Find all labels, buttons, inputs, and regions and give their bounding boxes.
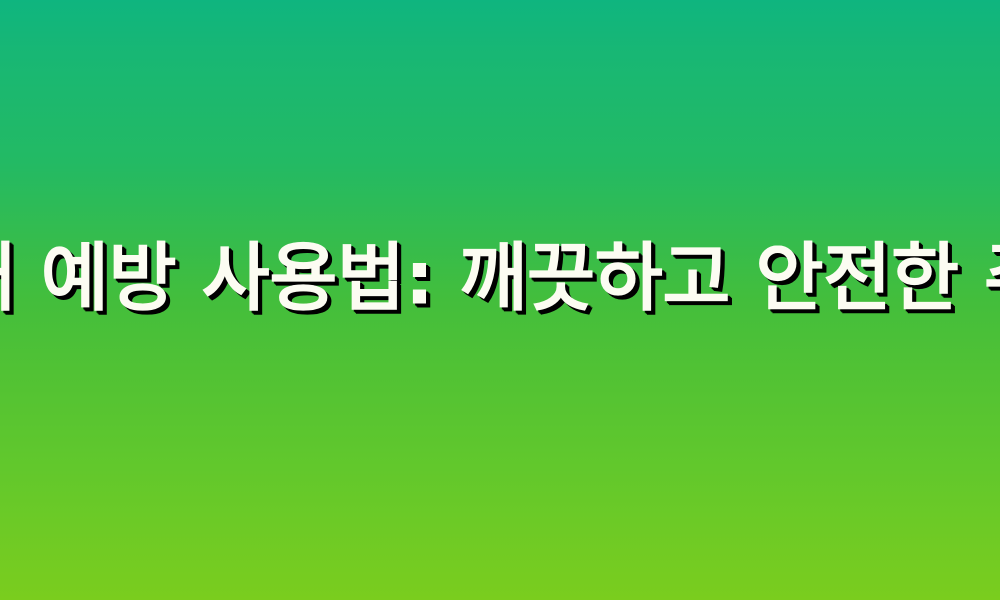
headline-container: 크대 예방 사용법: 깨끗하고 안전한 주방 xyxy=(0,228,1000,328)
banner-headline-text: 크대 예방 사용법: 깨끗하고 안전한 주방 xyxy=(0,241,1000,315)
banner-canvas: 크대 예방 사용법: 깨끗하고 안전한 주방 xyxy=(0,0,1000,600)
